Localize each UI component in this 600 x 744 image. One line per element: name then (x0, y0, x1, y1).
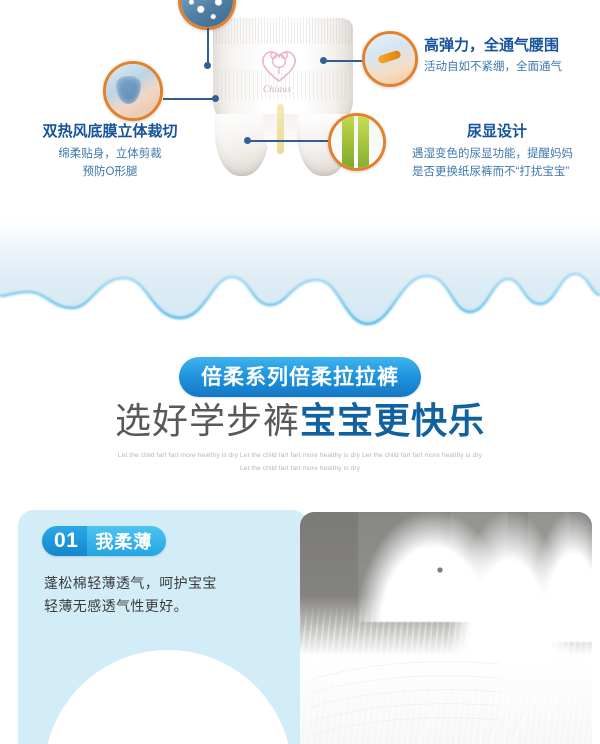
wave-svg (0, 200, 600, 352)
feature-card-copy: 蓬松棉轻薄透气，呵护宝宝 轻薄无感透气性更好。 (44, 572, 217, 617)
feature-copy-line-2: 轻薄无感透气性更好。 (44, 595, 217, 618)
wetness-strip (277, 104, 284, 154)
feature-number: 01 (42, 526, 87, 556)
feature-copy-line-1: 蓬松棉轻薄透气，呵护宝宝 (44, 572, 217, 595)
feature-number-badge: 01 我柔薄 (42, 526, 166, 556)
callout-wetness-indicator: 尿显设计 遇湿变色的尿显功能，提醒妈妈 是否更换纸尿裤而不“打扰宝宝” (412, 120, 582, 182)
callout-elastic-waist: 高弹力，全通气腰围 活动自如不紧绷，全面通气 (424, 34, 562, 77)
callout-heading: 双热风底膜立体裁切 (10, 120, 210, 141)
scalloped-wave-divider (0, 200, 600, 352)
english-subtitle-line-1: Let the child fart fart more healthy is … (0, 450, 600, 463)
callout-body-line-2: 是否更换纸尿裤而不“打扰宝宝” (412, 164, 582, 182)
product-feature-section: Chiaus 高弹力，全通气腰围 活动自如不紧绷，全面通气 尿显设计 遇湿变色的… (0, 0, 600, 200)
feature-card-section: 01 我柔薄 蓬松棉轻薄透气，呵护宝宝 轻薄无感透气性更好。 (0, 492, 600, 744)
callout-heading: 高弹力，全通气腰围 (424, 34, 562, 55)
callout-hot-air-film: 双热风底膜立体裁切 绵柔贴身，立体剪裁 预防O形腿 (10, 120, 210, 182)
wetness-indicator-icon (328, 113, 386, 171)
callout-body-line-1: 绵柔贴身，立体剪裁 (10, 146, 210, 164)
leader-dot-right (320, 57, 327, 64)
fiber-strands (300, 512, 592, 744)
leader-dot-top (204, 62, 211, 69)
callout-body-line-2: 预防O形腿 (10, 164, 210, 182)
page-title: 选好学步裤宝宝更快乐 (0, 401, 600, 441)
baby-illustration (44, 650, 292, 744)
leader-line-top (207, 28, 209, 64)
cotton-fiber-photo (300, 512, 592, 744)
english-subtitle-line-2: Let the child fart fart more healthy is … (0, 463, 600, 476)
heart-bear-logo-icon (257, 44, 301, 84)
series-badge: 倍柔系列倍柔拉拉裤 (179, 357, 421, 397)
callout-body: 活动自如不紧绷，全面通气 (424, 59, 562, 77)
leader-dot-left (212, 95, 219, 102)
leader-dot-wet (244, 137, 251, 144)
callout-body-line-1: 遇湿变色的尿显功能，提醒妈妈 (412, 146, 582, 164)
brand-script-text: Chiaus (263, 84, 292, 94)
feature-badge-title: 我柔薄 (87, 526, 166, 556)
leader-line-right (325, 60, 362, 62)
leader-line-left (163, 98, 215, 100)
leader-line-wet (248, 140, 328, 142)
callout-heading: 尿显设计 (412, 120, 582, 141)
absorbent-beads-icon (178, 0, 236, 30)
hot-air-film-icon (103, 61, 163, 121)
baby-photo-circle (44, 650, 292, 744)
headline-section: 倍柔系列倍柔拉拉裤 选好学步裤宝宝更快乐 Let the child fart … (0, 352, 600, 492)
wave-fill (0, 220, 600, 324)
page-title-primary: 选好学步裤 (115, 400, 300, 441)
stretch-waist-icon (362, 31, 418, 87)
page-title-accent: 宝宝更快乐 (300, 400, 485, 441)
